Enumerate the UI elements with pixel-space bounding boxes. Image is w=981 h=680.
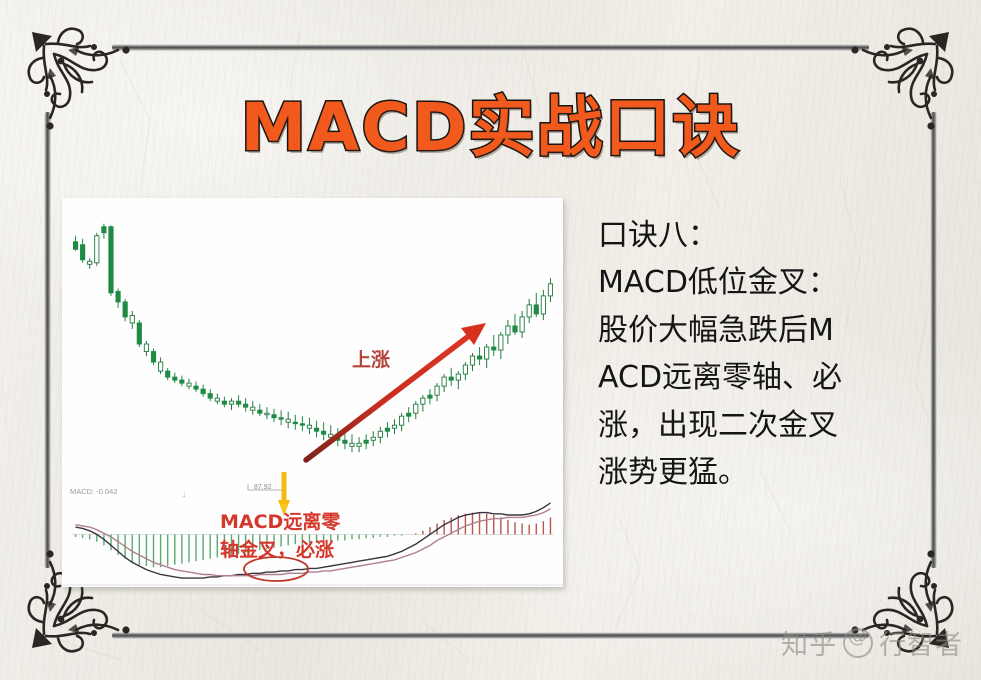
lesson-line-5: 涨，出现二次金叉 (598, 402, 970, 449)
at-icon (843, 628, 873, 658)
candle-body (102, 227, 106, 233)
candle-body (357, 443, 361, 446)
candle-body (180, 380, 184, 383)
candle-body (229, 401, 233, 404)
candle-body (109, 227, 113, 293)
frame-left-bar (44, 112, 51, 568)
candle-body (222, 401, 226, 404)
candle-body (485, 347, 489, 359)
candle-body (130, 315, 134, 323)
stock-chart-panel: MACD: -0.042 ↓ 87.92 (62, 198, 563, 587)
candle-body (300, 424, 304, 426)
candle-body (123, 302, 127, 317)
candle-body (144, 344, 148, 352)
candle-body (265, 413, 269, 415)
candle-body (350, 443, 354, 446)
watermark-handle: 行智者 (879, 623, 963, 662)
candle-body (272, 415, 276, 418)
candle-body (151, 352, 155, 363)
candle-body (378, 431, 382, 437)
candle-body (194, 386, 198, 389)
candle-body (385, 428, 389, 431)
frame-top-bar (112, 44, 869, 51)
candle-body (343, 440, 347, 443)
lesson-line-1: 口诀八： (598, 212, 970, 259)
candle-body (258, 410, 262, 413)
candle-body (428, 395, 432, 398)
macd-readout-label: MACD: -0.042 (70, 487, 118, 496)
candle-body (421, 398, 425, 404)
candle-body (371, 437, 375, 440)
candle-body (513, 326, 517, 332)
candle-body (463, 365, 467, 374)
candle-body (322, 431, 326, 434)
candle-body (137, 323, 141, 344)
candle-body (548, 284, 552, 296)
candle-body (73, 242, 77, 250)
lesson-text: 口诀八： MACD低位金叉： 股价大幅急跌后M ACD远离零轴、必 涨，出现二次… (598, 212, 970, 496)
candle-body (208, 394, 212, 399)
candlestick-chart: MACD: -0.042 ↓ 87.92 (62, 198, 563, 587)
watermark-brand: 知乎 (781, 623, 837, 662)
candle-body (173, 377, 177, 380)
candle-body (456, 374, 460, 380)
candle-body (201, 389, 205, 394)
lesson-line-2: MACD低位金叉： (598, 259, 970, 306)
candle-body (470, 356, 474, 365)
candle-body (392, 425, 396, 428)
candle-body (534, 305, 538, 314)
svg-text:87.92: 87.92 (254, 484, 272, 491)
macd-readout-arrow: ↓ (182, 490, 186, 499)
candle-body (314, 428, 318, 431)
candle-body (414, 404, 418, 413)
macd-note-line1: MACD远离零 (220, 510, 341, 533)
candle-body (116, 291, 120, 302)
candle-body (244, 404, 248, 407)
candle-body (364, 440, 368, 443)
candle-body (449, 377, 453, 380)
candle-body (215, 398, 219, 401)
candle-body (236, 401, 240, 404)
candle-body (307, 425, 311, 428)
page-title: MACD实战口诀 (0, 74, 981, 170)
candle-body (81, 245, 85, 260)
candle-body (541, 296, 545, 314)
uptrend-label: 上涨 (352, 349, 390, 371)
candle-body (88, 261, 92, 264)
candle-body (477, 356, 481, 359)
candle-body (435, 386, 439, 395)
candle-body (95, 236, 99, 263)
lesson-line-4: ACD远离零轴、必 (598, 354, 970, 401)
candle-body (399, 416, 403, 425)
frame-bottom-bar (112, 632, 869, 639)
candle-body (279, 418, 283, 420)
lesson-line-3: 股价大幅急跌后M (598, 307, 970, 354)
candle-body (499, 335, 503, 350)
candle-body (166, 371, 170, 377)
candle-body (492, 347, 496, 350)
candle-body (251, 407, 255, 410)
candle-body (527, 305, 531, 317)
candle-body (158, 362, 162, 371)
candle-body (286, 419, 290, 422)
candle-body (506, 326, 510, 335)
lesson-line-6: 涨势更猛。 (598, 449, 970, 496)
slide-root: MACD实战口诀 MACD: -0.042 ↓ 87.92 (0, 0, 981, 680)
candle-body (520, 317, 524, 332)
candle-body (293, 422, 297, 424)
candle-body (442, 377, 446, 386)
watermark: 知乎 行智者 (781, 623, 963, 662)
candle-body (407, 413, 411, 416)
candle-body (187, 383, 191, 386)
